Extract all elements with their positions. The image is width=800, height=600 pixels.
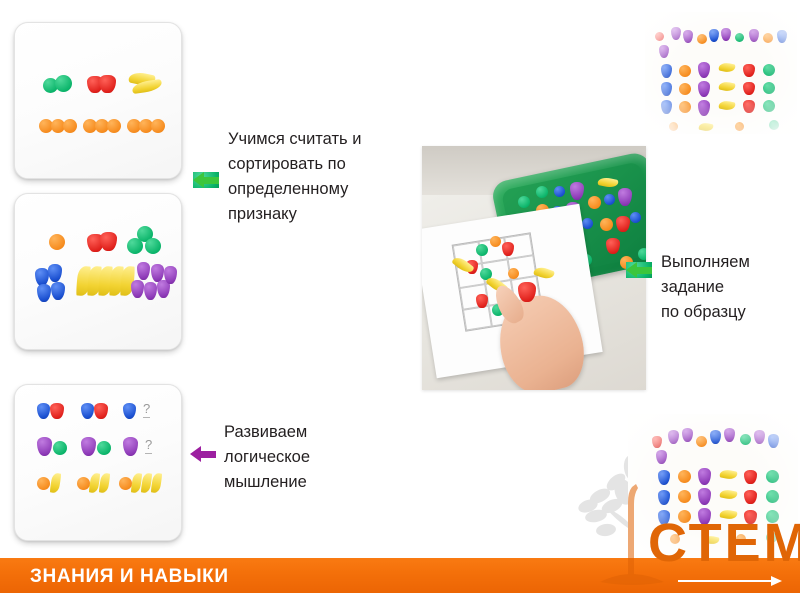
photo-child-task: [422, 146, 646, 390]
question-mark-row1: ?: [143, 402, 150, 418]
arrow-head: [190, 446, 201, 462]
arrow-shaft: [636, 267, 652, 274]
caption-line: Развиваем: [224, 420, 384, 445]
fruit-grid-top: [645, 12, 797, 134]
caption-line: сортировать по: [228, 152, 403, 177]
forward-arrow-icon: [678, 576, 782, 586]
card-logic-patterns[interactable]: ? ?: [14, 384, 182, 541]
arrow-shaft: [200, 451, 216, 458]
caption-line: определенному: [228, 177, 403, 202]
card-content: [15, 194, 181, 349]
arrow-head: [771, 576, 782, 586]
card-content: ? ?: [15, 385, 181, 540]
caption-logic: Развиваем логическое мышление: [224, 420, 384, 495]
card-content: [15, 23, 181, 178]
purple-left-arrow-logic: [190, 446, 216, 462]
caption-counting: Учимся считать и сортировать по определе…: [228, 127, 403, 227]
arrow-head: [193, 172, 204, 188]
caption-line: признаку: [228, 202, 403, 227]
photo-fruit-rows-top: [645, 12, 797, 134]
arrow-shaft: [203, 177, 219, 184]
caption-line: Учимся считать и: [228, 127, 403, 152]
caption-line: по образцу: [661, 300, 796, 325]
arrow-head: [626, 262, 637, 278]
caption-line: логическое: [224, 445, 384, 470]
green-left-arrow-sample: [626, 262, 652, 278]
card-counting-groups[interactable]: [14, 193, 182, 350]
banner-watermark-wordmark: СТЕМ: [648, 512, 800, 574]
caption-line: задание: [661, 275, 796, 300]
slide-stage: ? ? Учимся считать и сортировать по опр: [0, 0, 800, 600]
caption-line: мышление: [224, 470, 384, 495]
banner-title: ЗНАНИЯ И НАВЫКИ: [30, 566, 229, 588]
arrow-shaft: [678, 580, 773, 582]
caption-line: Выполняем: [661, 250, 796, 275]
card-sorting-by-colour[interactable]: [14, 22, 182, 179]
bottom-banner: СТЕМ ЗНАНИЯ И НАВЫКИ: [0, 558, 800, 593]
green-left-arrow-counting: [193, 172, 219, 188]
question-mark-row2: ?: [145, 438, 152, 454]
caption-sample-task: Выполняем задание по образцу: [661, 250, 796, 325]
